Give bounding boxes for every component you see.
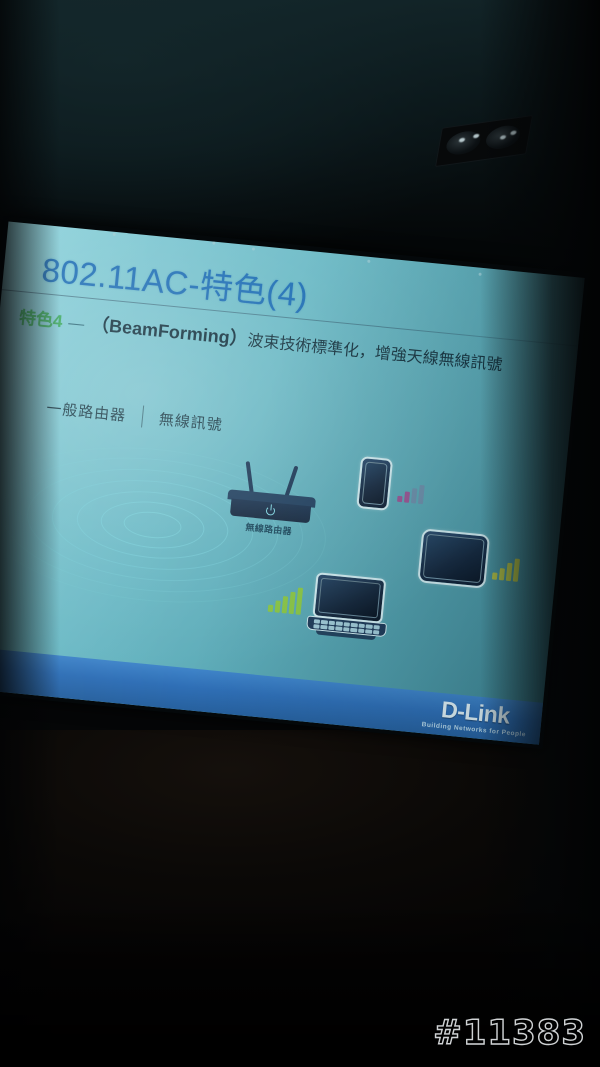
laptop-device-icon (306, 572, 392, 644)
signal-bar (289, 592, 296, 614)
signal-bar (275, 600, 281, 612)
tablet-screen (423, 534, 485, 583)
beamforming-term: （BeamForming） (90, 310, 249, 351)
laptop-lid (312, 572, 386, 624)
signal-bar (397, 496, 403, 502)
laptop-screen (318, 578, 381, 619)
signal-bar (268, 605, 274, 612)
photo-scene: 802.11AC-特色(4) 特色4 — （BeamForming） 波束技術標… (0, 0, 600, 1067)
signal-bar (411, 488, 417, 503)
phone-screen (362, 461, 388, 505)
signal-bar (418, 485, 425, 504)
subtitle-dash: — (61, 314, 92, 335)
signal-bar (282, 596, 289, 613)
signal-bars-strong (268, 582, 304, 615)
image-watermark: #11383 (433, 1013, 586, 1053)
signal-bar (404, 491, 410, 502)
router-antenna-left (246, 461, 254, 493)
signal-bars-weak (397, 480, 425, 504)
wireless-router-icon: 無線路由器 (223, 459, 321, 530)
phone-device-icon (356, 456, 393, 511)
router-antenna-right (284, 466, 298, 498)
